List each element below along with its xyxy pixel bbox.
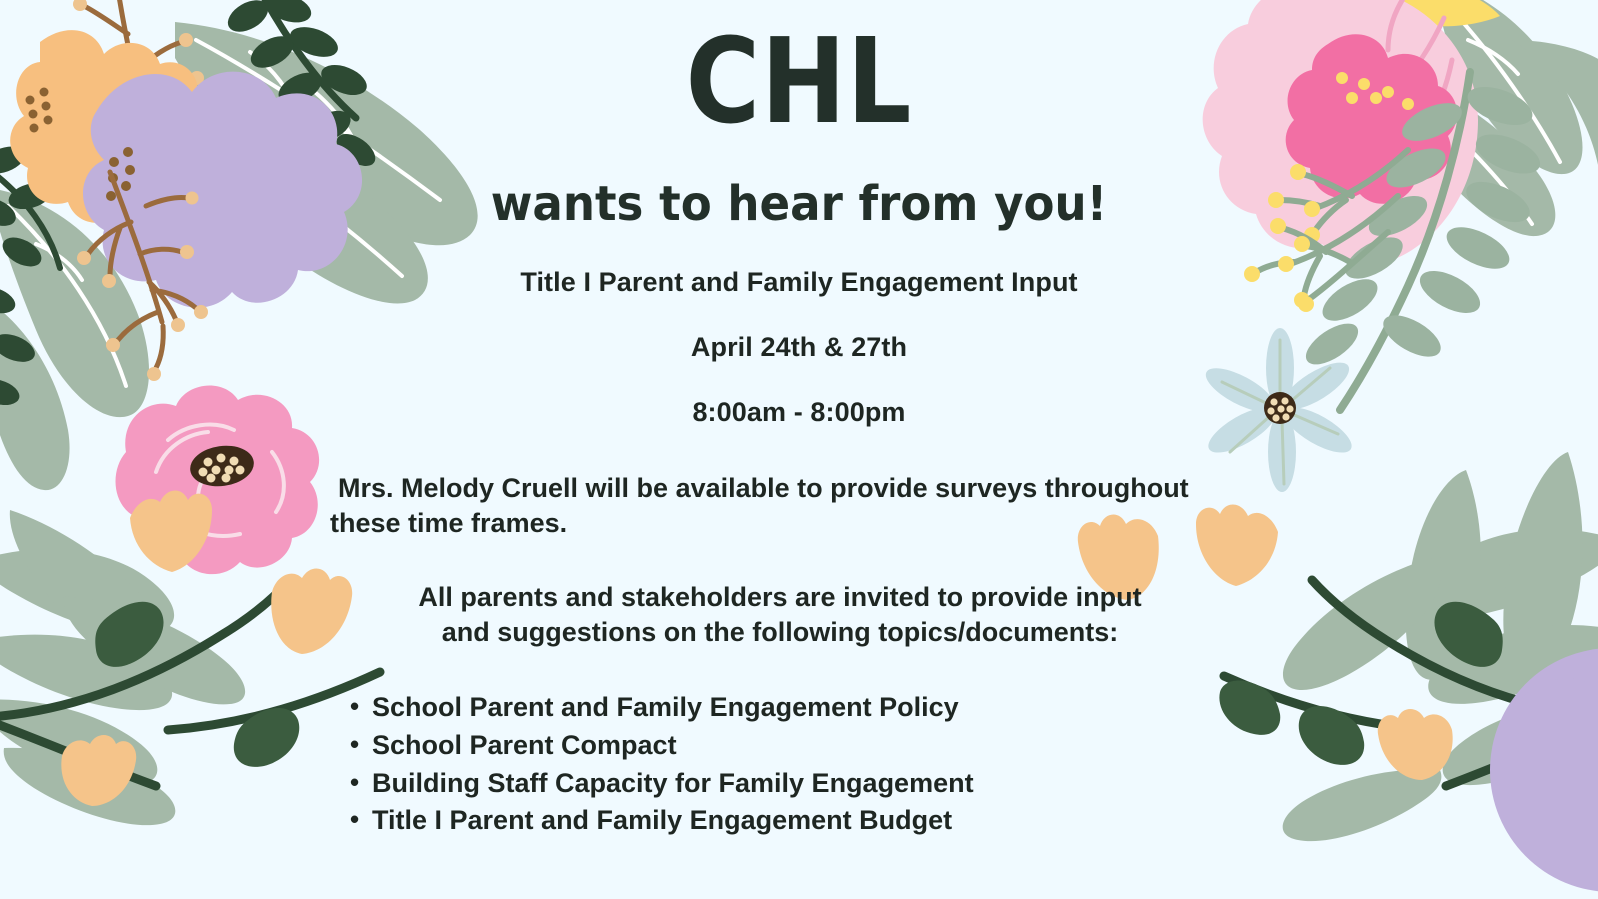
topics-list: School Parent and Family Engagement Poli… <box>340 689 974 840</box>
page-subtitle: wants to hear from you! <box>48 178 1550 231</box>
event-dates: April 24th & 27th <box>0 332 1598 363</box>
invitation-line-2: and suggestions on the following topics/… <box>330 615 1230 650</box>
list-item: School Parent and Family Engagement Poli… <box>372 689 974 727</box>
flyer-content: CHL wants to hear from you! Title I Pare… <box>0 0 1598 899</box>
invitation-text: All parents and stakeholders are invited… <box>330 580 1230 649</box>
page-title: CHL <box>112 22 1486 140</box>
flyer-canvas: .sage { fill:#a4b9a8; } .sage2 { fill:#9… <box>0 0 1598 899</box>
event-times: 8:00am - 8:00pm <box>0 397 1598 428</box>
invitation-line-1: All parents and stakeholders are invited… <box>330 580 1230 615</box>
list-item: Title I Parent and Family Engagement Bud… <box>372 802 974 840</box>
event-name: Title I Parent and Family Engagement Inp… <box>0 267 1598 298</box>
list-item: School Parent Compact <box>372 727 974 765</box>
availability-note: Mrs. Melody Cruell will be available to … <box>330 471 1230 540</box>
list-item: Building Staff Capacity for Family Engag… <box>372 765 974 803</box>
